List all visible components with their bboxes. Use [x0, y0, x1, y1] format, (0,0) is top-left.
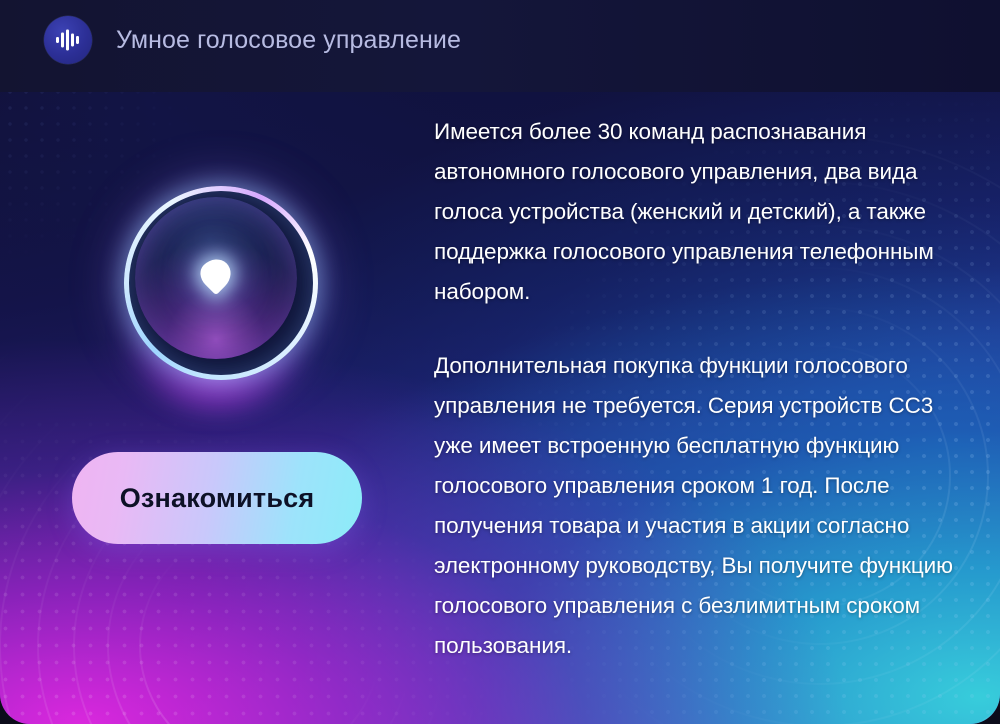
- voice-assistant-orb: [116, 178, 316, 378]
- paragraph-one: Имеется более 30 команд распознавания ав…: [434, 112, 962, 312]
- header: Умное голосовое управление: [44, 16, 461, 64]
- paragraph-two: Дополнительная покупка функции голосовог…: [434, 346, 962, 666]
- page-title: Умное голосовое управление: [116, 26, 461, 55]
- voice-waveform-icon: [44, 16, 92, 64]
- learn-more-button[interactable]: Ознакомиться: [72, 452, 362, 544]
- description-text: Имеется более 30 команд распознавания ав…: [434, 112, 962, 666]
- promo-card: Умное голосовое управление Ознакомиться …: [0, 0, 1000, 724]
